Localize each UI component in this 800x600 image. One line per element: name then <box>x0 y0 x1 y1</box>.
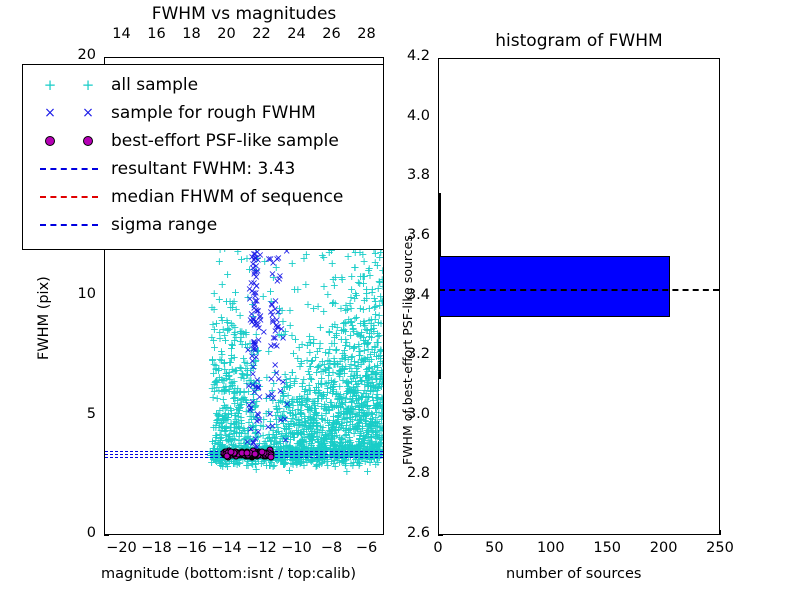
legend-dashed-blue-line <box>31 168 107 170</box>
legend-entry[interactable]: median FHWM of sequence <box>31 183 373 211</box>
left-y-tick-mark <box>104 535 109 536</box>
circle-icon <box>45 136 55 146</box>
legend-circle-marker <box>31 136 107 146</box>
plus-icon: + <box>44 78 57 93</box>
left-bottom-tick-label: −6 <box>345 540 389 556</box>
legend-label: median FHWM of sequence <box>107 187 343 207</box>
left-y-tick-label: 10 <box>52 286 96 302</box>
right-x-tick-label: 150 <box>585 540 629 556</box>
cross-icon: × <box>44 106 56 120</box>
cross-icon: × <box>82 106 94 120</box>
left-y-tick-label: 0 <box>52 525 96 541</box>
resultant-fwhm-line <box>105 454 383 455</box>
legend-label: sample for rough FWHM <box>107 103 316 123</box>
right-x-tick-label: 100 <box>529 540 573 556</box>
histogram-bar-small <box>439 336 441 357</box>
legend-cross-marker: ×× <box>31 106 107 120</box>
psf-like-sample-point <box>242 452 249 459</box>
histogram-bar-small <box>439 214 441 235</box>
plus-icon: + <box>82 78 95 93</box>
histogram-bar-small <box>439 235 441 256</box>
sigma-range-lower-line <box>105 457 383 458</box>
right-x-tick-label: 250 <box>698 540 742 556</box>
right-x-axis-label: number of sources <box>506 566 642 582</box>
left-top-tick-label: 26 <box>312 26 352 42</box>
right-x-tick-label: 50 <box>472 540 516 556</box>
legend-dashed-red-line <box>31 196 107 198</box>
right-y-tick-label: 4.2 <box>380 48 430 64</box>
right-plot-area[interactable] <box>438 58 720 535</box>
left-top-tick-label: 14 <box>102 26 142 42</box>
right-y-tick-mark <box>438 535 443 536</box>
right-y-tick-label: 3.8 <box>380 167 430 183</box>
left-top-tick-label: 20 <box>207 26 247 42</box>
right-y-tick-label: 4.0 <box>380 108 430 124</box>
left-top-tick-label: 18 <box>172 26 212 42</box>
legend-entry[interactable]: sigma range <box>31 211 373 239</box>
histogram-bar-small <box>439 317 441 336</box>
legend-label: all sample <box>107 75 198 95</box>
legend-dashdot-blue-line <box>31 224 107 226</box>
histogram-bar <box>439 256 670 317</box>
histogram-resultant-fwhm-line <box>439 289 719 291</box>
circle-icon <box>83 136 93 146</box>
histogram-bar-small <box>439 357 441 379</box>
legend-entry[interactable]: best-effort PSF-like sample <box>31 127 373 155</box>
dashed-line-icon <box>40 196 98 198</box>
left-top-tick-label: 24 <box>277 26 317 42</box>
legend[interactable]: ++all sample××sample for rough FWHMbest-… <box>22 64 384 250</box>
dashdot-line-icon <box>40 224 98 226</box>
right-y-tick-label: 2.6 <box>380 525 430 541</box>
legend-label: sigma range <box>107 215 217 235</box>
histogram-bar-small <box>439 193 441 214</box>
legend-entry[interactable]: resultant FWHM: 3.43 <box>31 155 373 183</box>
right-y-axis-label: FWHM of best-effort PSF-like sources <box>400 235 415 465</box>
right-y-tick-label: 2.8 <box>380 465 430 481</box>
sigma-range-upper-line <box>105 451 383 452</box>
legend-entry[interactable]: ++all sample <box>31 71 373 99</box>
left-panel-title: FWHM vs magnitudes <box>104 4 384 24</box>
dashed-line-icon <box>40 168 98 170</box>
histogram-layer <box>439 59 719 534</box>
left-x-axis-label: magnitude (bottom:isnt / top:calib) <box>101 566 356 582</box>
left-top-tick-label: 16 <box>137 26 177 42</box>
left-y-tick-label: 5 <box>52 406 96 422</box>
legend-label: resultant FWHM: 3.43 <box>107 159 295 179</box>
right-x-tick-label: 0 <box>416 540 460 556</box>
right-x-tick-label: 200 <box>642 540 686 556</box>
left-y-axis-label: FWHM (pix) <box>36 276 52 360</box>
legend-label: best-effort PSF-like sample <box>107 131 339 151</box>
left-top-tick-label: 22 <box>242 26 282 42</box>
psf-like-sample-point <box>260 449 267 456</box>
legend-plus-marker: ++ <box>31 78 107 93</box>
right-x-tick-mark <box>720 530 721 535</box>
legend-entry[interactable]: ××sample for rough FWHM <box>31 99 373 127</box>
left-y-tick-label: 20 <box>52 47 96 63</box>
figure-canvas: FWHM vs magnitudes 1416182022242628 −20−… <box>0 0 800 600</box>
right-panel-title: histogram of FWHM <box>438 31 720 51</box>
left-top-tick-label: 28 <box>347 26 387 42</box>
